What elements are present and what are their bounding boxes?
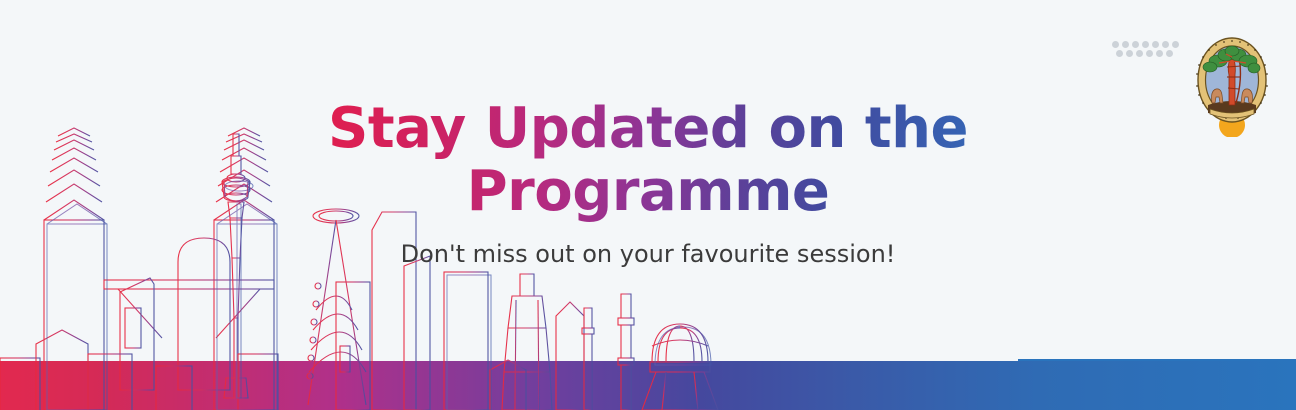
dot: [1132, 41, 1139, 48]
page-title: Stay Updated on theProgramme: [324, 98, 972, 223]
malaysian-orthopaedic-association-logo: [1186, 33, 1278, 137]
bottom-gradient-band-step: [1018, 359, 1296, 361]
subtitle: Don't miss out on your favourite session…: [324, 240, 972, 268]
headline-block: Stay Updated on theProgramme: [324, 98, 972, 223]
dot: [1166, 50, 1173, 57]
dot: [1112, 41, 1119, 48]
dot: [1156, 50, 1163, 57]
dot: [1146, 50, 1153, 57]
dot: [1162, 41, 1169, 48]
decorative-dot-grid: [1112, 41, 1179, 59]
dot: [1136, 50, 1143, 57]
dot: [1122, 41, 1129, 48]
promo-banner: Stay Updated on theProgramme Don't miss …: [0, 0, 1296, 410]
headline-line-2: Programme: [467, 159, 830, 224]
dot: [1126, 50, 1133, 57]
dot-grid-row: [1112, 41, 1179, 48]
dot: [1116, 50, 1123, 57]
bottom-gradient-band: [0, 361, 1296, 410]
dot: [1152, 41, 1159, 48]
headline-line-1: Stay Updated on the: [328, 96, 968, 161]
dot: [1172, 41, 1179, 48]
logo-tree-trunk: [1228, 59, 1235, 105]
dot-grid-row: [1116, 50, 1179, 57]
dot: [1142, 41, 1149, 48]
